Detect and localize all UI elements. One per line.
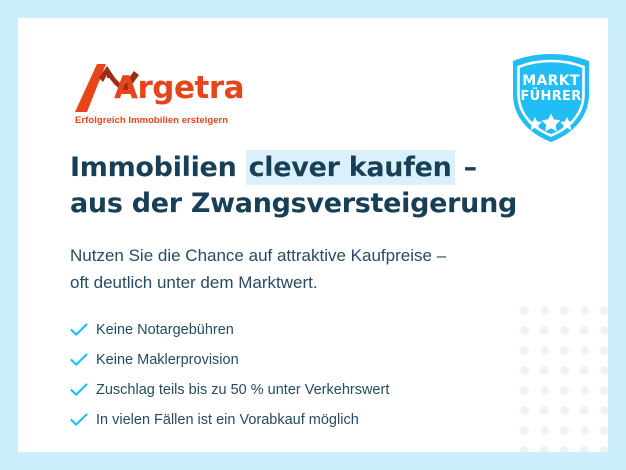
- decorative-dot: [520, 426, 529, 435]
- subheading-line2: oft deutlich unter dem Marktwert.: [70, 273, 318, 292]
- subheading-line1: Nutzen Sie die Chance auf attraktive Kau…: [70, 246, 446, 265]
- promo-banner: Argetra Erfolgreich Immobilien ersteiger…: [0, 0, 626, 470]
- list-item: Keine Notargebühren: [70, 315, 510, 345]
- decorative-dot: [560, 386, 569, 395]
- check-icon: [70, 353, 96, 367]
- list-item-label: Keine Maklerprovision: [96, 352, 239, 368]
- decorative-dot: [580, 426, 589, 435]
- decorative-dot: [580, 366, 589, 375]
- benefit-list: Keine Notargebühren Keine Maklerprovisio…: [70, 315, 510, 435]
- decorative-dot: [520, 366, 529, 375]
- page-title: Immobilien clever kaufen – aus der Zwang…: [70, 150, 540, 222]
- decorative-dot: [560, 426, 569, 435]
- badge-label-line2: FÜHRER: [505, 89, 597, 104]
- decorative-dot: [540, 426, 549, 435]
- logo-tagline: Erfolgreich Immobilien ersteigern: [75, 115, 228, 126]
- decorative-dot: [520, 306, 529, 315]
- decorative-dot: [520, 326, 529, 335]
- headline-line2: aus der Zwangsversteigerung: [70, 188, 517, 219]
- decorative-dot: [520, 386, 529, 395]
- decorative-dot: [600, 426, 608, 435]
- decorative-dot: [560, 346, 569, 355]
- decorative-dot-grid: [520, 306, 608, 452]
- decorative-dot: [580, 386, 589, 395]
- decorative-dot: [600, 406, 608, 415]
- check-icon: [70, 413, 96, 427]
- decorative-dot: [580, 446, 589, 452]
- decorative-dot: [560, 446, 569, 452]
- decorative-dot: [600, 386, 608, 395]
- decorative-dot: [600, 446, 608, 452]
- check-icon: [70, 383, 96, 397]
- badge-label: MARKT FÜHRER: [505, 74, 597, 104]
- list-item: Zuschlag teils bis zu 50 % unter Verkehr…: [70, 375, 510, 405]
- decorative-dot: [600, 326, 608, 335]
- decorative-dot: [560, 406, 569, 415]
- decorative-dot: [540, 406, 549, 415]
- decorative-dot: [560, 306, 569, 315]
- check-icon: [70, 323, 96, 337]
- decorative-dot: [540, 366, 549, 375]
- decorative-dot: [540, 306, 549, 315]
- decorative-dot: [520, 406, 529, 415]
- argetra-logo[interactable]: Argetra Erfolgreich Immobilien ersteiger…: [73, 62, 253, 124]
- decorative-dot: [560, 326, 569, 335]
- headline-highlight: clever kaufen: [246, 150, 455, 185]
- list-item: Keine Maklerprovision: [70, 345, 510, 375]
- list-item: In vielen Fällen ist ein Vorabkauf mögli…: [70, 405, 510, 435]
- list-item-label: Keine Notargebühren: [96, 322, 234, 338]
- headline-line1-before: Immobilien: [70, 152, 246, 183]
- decorative-dot: [540, 446, 549, 452]
- decorative-dot: [520, 446, 529, 452]
- decorative-dot: [560, 366, 569, 375]
- decorative-dot: [540, 386, 549, 395]
- logo-wordmark: Argetra: [114, 73, 244, 104]
- decorative-dot: [580, 406, 589, 415]
- decorative-dot: [580, 346, 589, 355]
- decorative-dot: [520, 346, 529, 355]
- decorative-dot: [600, 346, 608, 355]
- market-leader-badge: MARKT FÜHRER: [505, 52, 597, 144]
- list-item-label: Zuschlag teils bis zu 50 % unter Verkehr…: [96, 382, 389, 398]
- decorative-dot: [540, 326, 549, 335]
- headline-line1-after: –: [455, 152, 477, 183]
- decorative-dot: [580, 306, 589, 315]
- badge-label-line1: MARKT: [505, 74, 597, 89]
- subheading: Nutzen Sie die Chance auf attraktive Kau…: [70, 242, 550, 296]
- decorative-dot: [600, 306, 608, 315]
- decorative-dot: [600, 366, 608, 375]
- decorative-dot: [540, 346, 549, 355]
- list-item-label: In vielen Fällen ist ein Vorabkauf mögli…: [96, 412, 359, 428]
- decorative-dot: [580, 326, 589, 335]
- banner-card: Argetra Erfolgreich Immobilien ersteiger…: [18, 18, 608, 452]
